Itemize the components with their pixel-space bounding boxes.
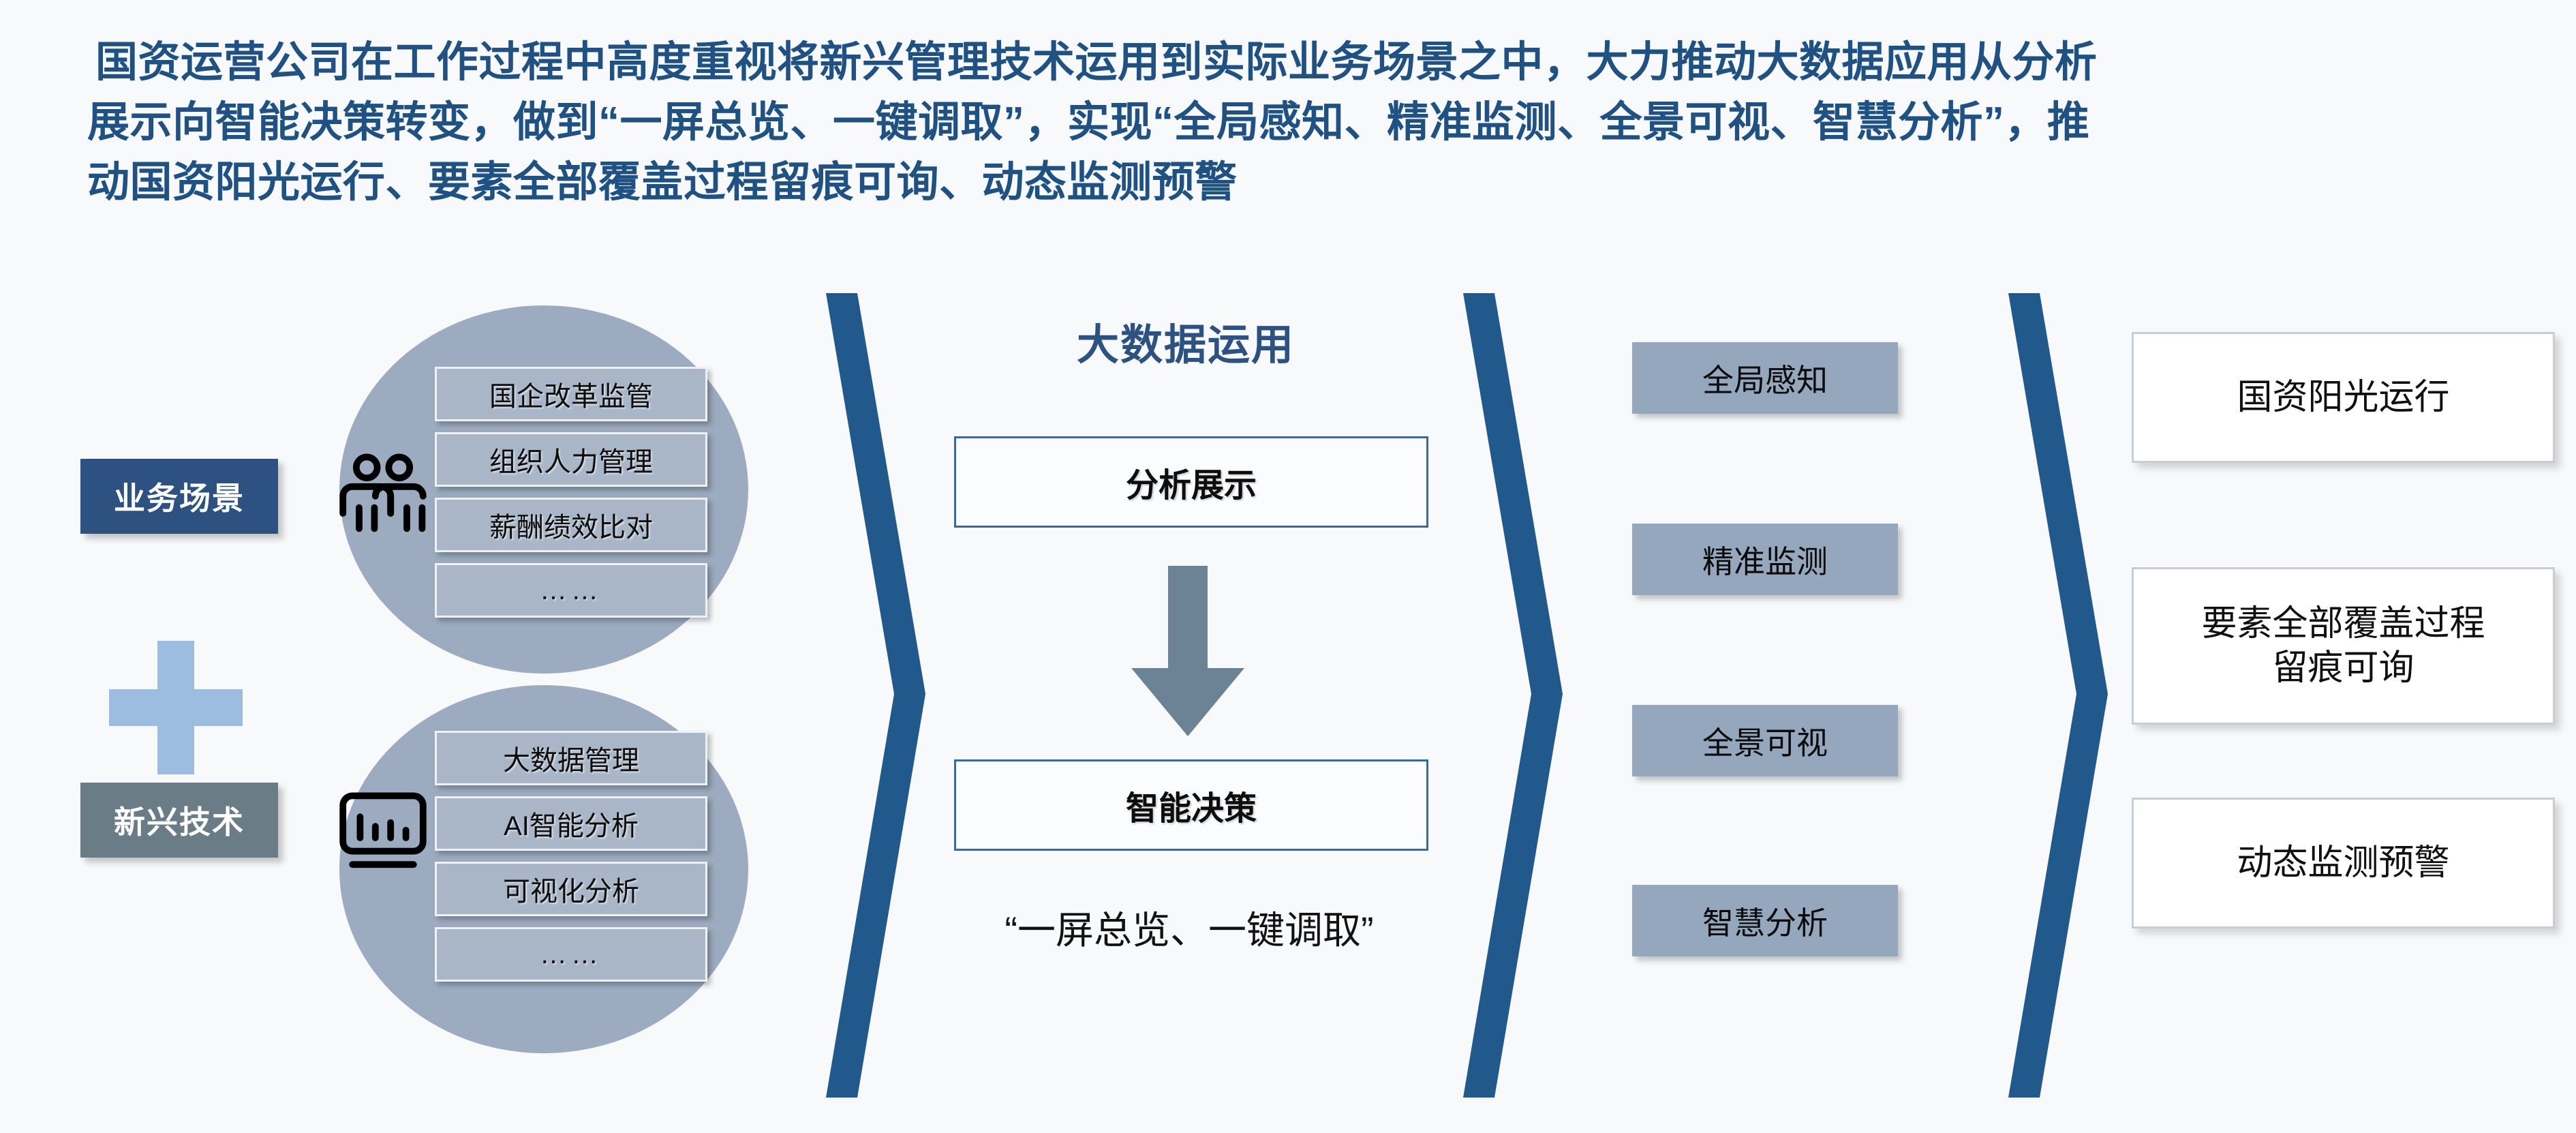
outcome-label: 要素全部覆盖过程留痕可询 [2201, 602, 2485, 691]
list-item[interactable]: 薪酬绩效比对 [435, 498, 707, 552]
capability-label: 全局感知 [1702, 356, 1828, 401]
step-intelligent-decision-label: 智能决策 [1126, 781, 1257, 829]
label-business-scenario-text: 业务场景 [114, 474, 245, 519]
headline-line-1: 国资运营公司在工作过程中高度重视将新兴管理技术运用到实际业务场景之中，大力推动大… [95, 33, 2481, 93]
list-item-label: …… [540, 939, 602, 970]
outcome-label: 动态监测预警 [2237, 841, 2449, 886]
people-icon [335, 447, 431, 542]
list-item[interactable]: …… [435, 927, 707, 982]
step-intelligent-decision[interactable]: 智能决策 [954, 759, 1428, 851]
list-item[interactable]: …… [435, 563, 707, 618]
capability-label: 精准监测 [1702, 537, 1828, 582]
down-arrow-icon [1123, 566, 1253, 736]
list-item-label: AI智能分析 [504, 804, 639, 843]
headline-line-3: 动国资阳光运行、要素全部覆盖过程留痕可询、动态监测预警 [95, 153, 2481, 213]
capability-label: 智慧分析 [1702, 898, 1828, 943]
outcome-card[interactable]: 动态监测预警 [2132, 798, 2555, 928]
plus-icon [109, 641, 243, 774]
capability-box[interactable]: 全局感知 [1632, 342, 1898, 414]
list-item-label: 国企改革监管 [489, 374, 653, 414]
outcome-label: 国资阳光运行 [2237, 376, 2449, 420]
list-item[interactable]: AI智能分析 [435, 796, 707, 851]
list-item-label: …… [540, 575, 602, 606]
label-emerging-tech: 新兴技术 [80, 783, 278, 858]
big-data-section-title: 大数据运用 [947, 310, 1424, 372]
headline-line-2: 展示向智能决策转变，做到“一屏总览、一键调取”，实现“全局感知、精准监测、全景可… [95, 93, 2481, 153]
outcome-card[interactable]: 国资阳光运行 [2132, 332, 2555, 463]
chevron-right-icon [1448, 293, 1578, 1098]
list-item[interactable]: 国企改革监管 [435, 367, 707, 421]
chevron-right-icon [811, 293, 940, 1098]
business-scenario-list: 国企改革监管 组织人力管理 薪酬绩效比对 …… [435, 367, 707, 629]
emerging-tech-list: 大数据管理 AI智能分析 可视化分析 …… [435, 731, 707, 993]
bar-chart-icon [335, 781, 431, 876]
capability-box[interactable]: 全景可视 [1632, 705, 1898, 776]
chevron-right-icon [1993, 293, 2123, 1098]
label-emerging-tech-text: 新兴技术 [114, 798, 245, 843]
capability-box[interactable]: 精准监测 [1632, 524, 1898, 595]
list-item-label: 可视化分析 [503, 869, 639, 909]
step-analysis-display[interactable]: 分析展示 [954, 436, 1428, 528]
outcome-card[interactable]: 要素全部覆盖过程留痕可询 [2132, 567, 2555, 725]
list-item[interactable]: 大数据管理 [435, 731, 707, 785]
list-item[interactable]: 可视化分析 [435, 862, 707, 916]
list-item-label: 薪酬绩效比对 [489, 505, 653, 545]
big-data-caption: “一屏总览、一键调取” [927, 900, 1452, 955]
slide-canvas: 国资运营公司在工作过程中高度重视将新兴管理技术运用到实际业务场景之中，大力推动大… [0, 0, 2576, 1133]
list-item[interactable]: 组织人力管理 [435, 432, 707, 487]
list-item-label: 大数据管理 [503, 738, 639, 778]
capability-label: 全景可视 [1702, 719, 1828, 764]
label-business-scenario: 业务场景 [80, 459, 278, 534]
step-analysis-display-label: 分析展示 [1126, 458, 1257, 506]
capability-box[interactable]: 智慧分析 [1632, 885, 1898, 956]
list-item-label: 组织人力管理 [489, 440, 653, 479]
page-title: 国资运营公司在工作过程中高度重视将新兴管理技术运用到实际业务场景之中，大力推动大… [95, 33, 2481, 213]
